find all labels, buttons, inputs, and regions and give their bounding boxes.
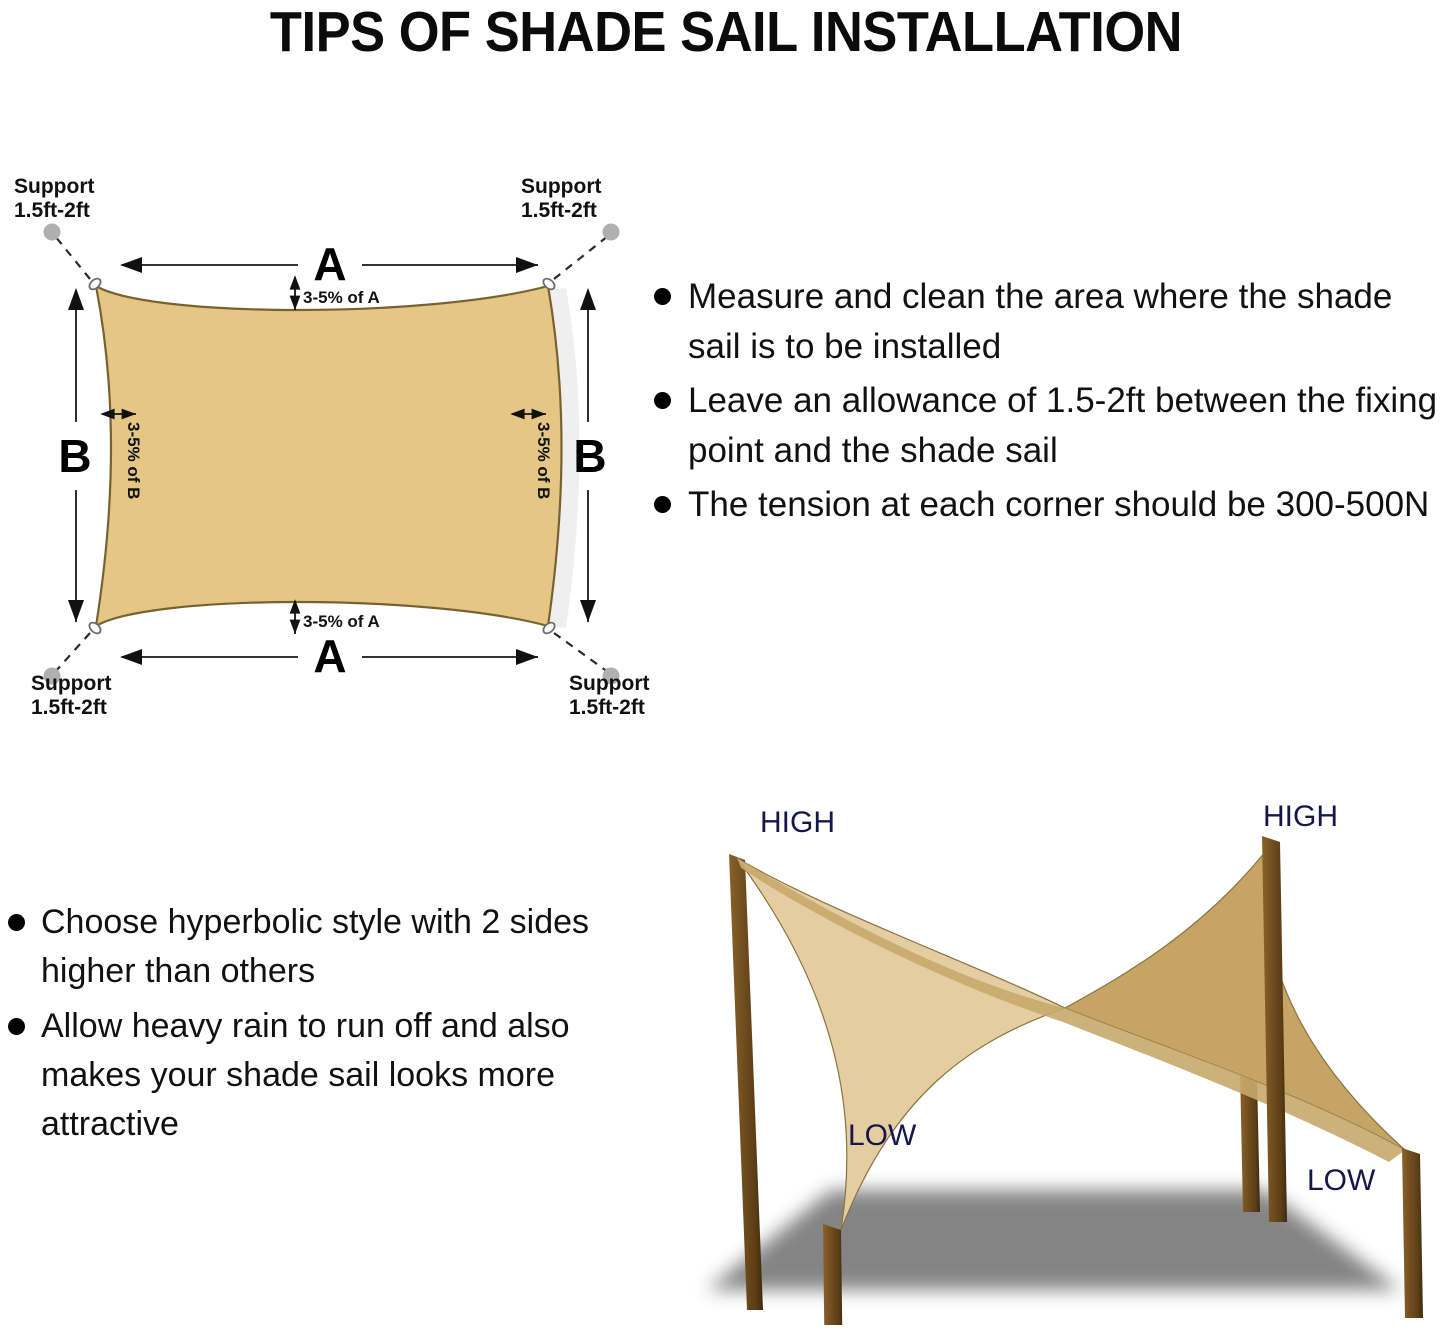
hyperbolic-style-tips-list: Choose hyperbolic style with 2 sides hig… xyxy=(8,898,628,1155)
post-low-left xyxy=(823,1224,843,1325)
post-high-right xyxy=(1262,836,1287,1222)
list-item: Leave an allowance of 1.5-2ft between th… xyxy=(654,376,1452,476)
support-label-bottom-right: Support 1.5ft-2ft xyxy=(569,672,649,719)
callout-label: 3-5% of A xyxy=(303,612,380,631)
support-label-line2: 1.5ft-2ft xyxy=(31,696,107,719)
label-low-right: LOW xyxy=(1307,1164,1376,1197)
dimension-label-b-left: B xyxy=(58,430,91,482)
support-label-line1: Support xyxy=(569,672,649,695)
ground-shadow xyxy=(707,1190,1401,1290)
post-low-right xyxy=(1402,1148,1423,1318)
rectangular-sail-diagram: Support 1.5ft-2ft Support 1.5ft-2ft Supp… xyxy=(0,160,660,740)
bullet-dot-icon xyxy=(8,1018,25,1035)
dimension-label-a-bottom: A xyxy=(313,630,346,682)
support-dot-top-left xyxy=(44,224,61,241)
support-label-line1: Support xyxy=(31,672,111,695)
label-low-left: LOW xyxy=(848,1119,917,1152)
support-label-bottom-left: Support 1.5ft-2ft xyxy=(31,672,111,719)
tip-text: Measure and clean the area where the sha… xyxy=(688,272,1452,372)
label-high-right: HIGH xyxy=(1263,800,1338,833)
hyperbolic-sail-illustration: HIGH LOW HIGH LOW xyxy=(645,790,1452,1325)
callout-label: 3-5% of B xyxy=(124,422,143,499)
support-label-line2: 1.5ft-2ft xyxy=(521,199,597,222)
callout-bottom-curve: 3-5% of A xyxy=(295,601,380,634)
post-high-left xyxy=(729,854,763,1310)
support-label-line2: 1.5ft-2ft xyxy=(569,696,645,719)
bullet-dot-icon xyxy=(654,392,671,409)
list-item: The tension at each corner should be 300… xyxy=(654,480,1452,530)
tip-text: Allow heavy rain to run off and also mak… xyxy=(41,1002,628,1149)
support-label-line2: 1.5ft-2ft xyxy=(14,199,90,222)
list-item: Allow heavy rain to run off and also mak… xyxy=(8,1002,628,1149)
sail-surface-right xyxy=(1065,842,1405,1150)
support-label-top-right: Support 1.5ft-2ft xyxy=(521,175,601,222)
tip-text: Leave an allowance of 1.5-2ft between th… xyxy=(688,376,1452,476)
support-label-top-left: Support 1.5ft-2ft xyxy=(14,175,94,222)
tip-text: Choose hyperbolic style with 2 sides hig… xyxy=(41,898,628,996)
sail-shape xyxy=(96,286,562,626)
sail-surface-left xyxy=(737,858,1065,1230)
support-dot-top-right xyxy=(603,224,620,241)
installation-tips-list: Measure and clean the area where the sha… xyxy=(654,272,1452,534)
page-title: TIPS OF SHADE SAIL INSTALLATION xyxy=(58,0,1394,64)
list-item: Measure and clean the area where the sha… xyxy=(654,272,1452,372)
callout-label: 3-5% of A xyxy=(303,288,380,307)
tip-text: The tension at each corner should be 300… xyxy=(688,480,1452,530)
dimension-label-b-right: B xyxy=(573,430,606,482)
bullet-dot-icon xyxy=(8,914,25,931)
callout-label: 3-5% of B xyxy=(534,422,553,499)
dimension-label-a-top: A xyxy=(313,238,346,290)
support-label-line1: Support xyxy=(521,175,601,198)
support-label-line1: Support xyxy=(14,175,94,198)
label-high-left: HIGH xyxy=(760,806,835,839)
bullet-dot-icon xyxy=(654,288,671,305)
bullet-dot-icon xyxy=(654,496,671,513)
list-item: Choose hyperbolic style with 2 sides hig… xyxy=(8,898,628,996)
